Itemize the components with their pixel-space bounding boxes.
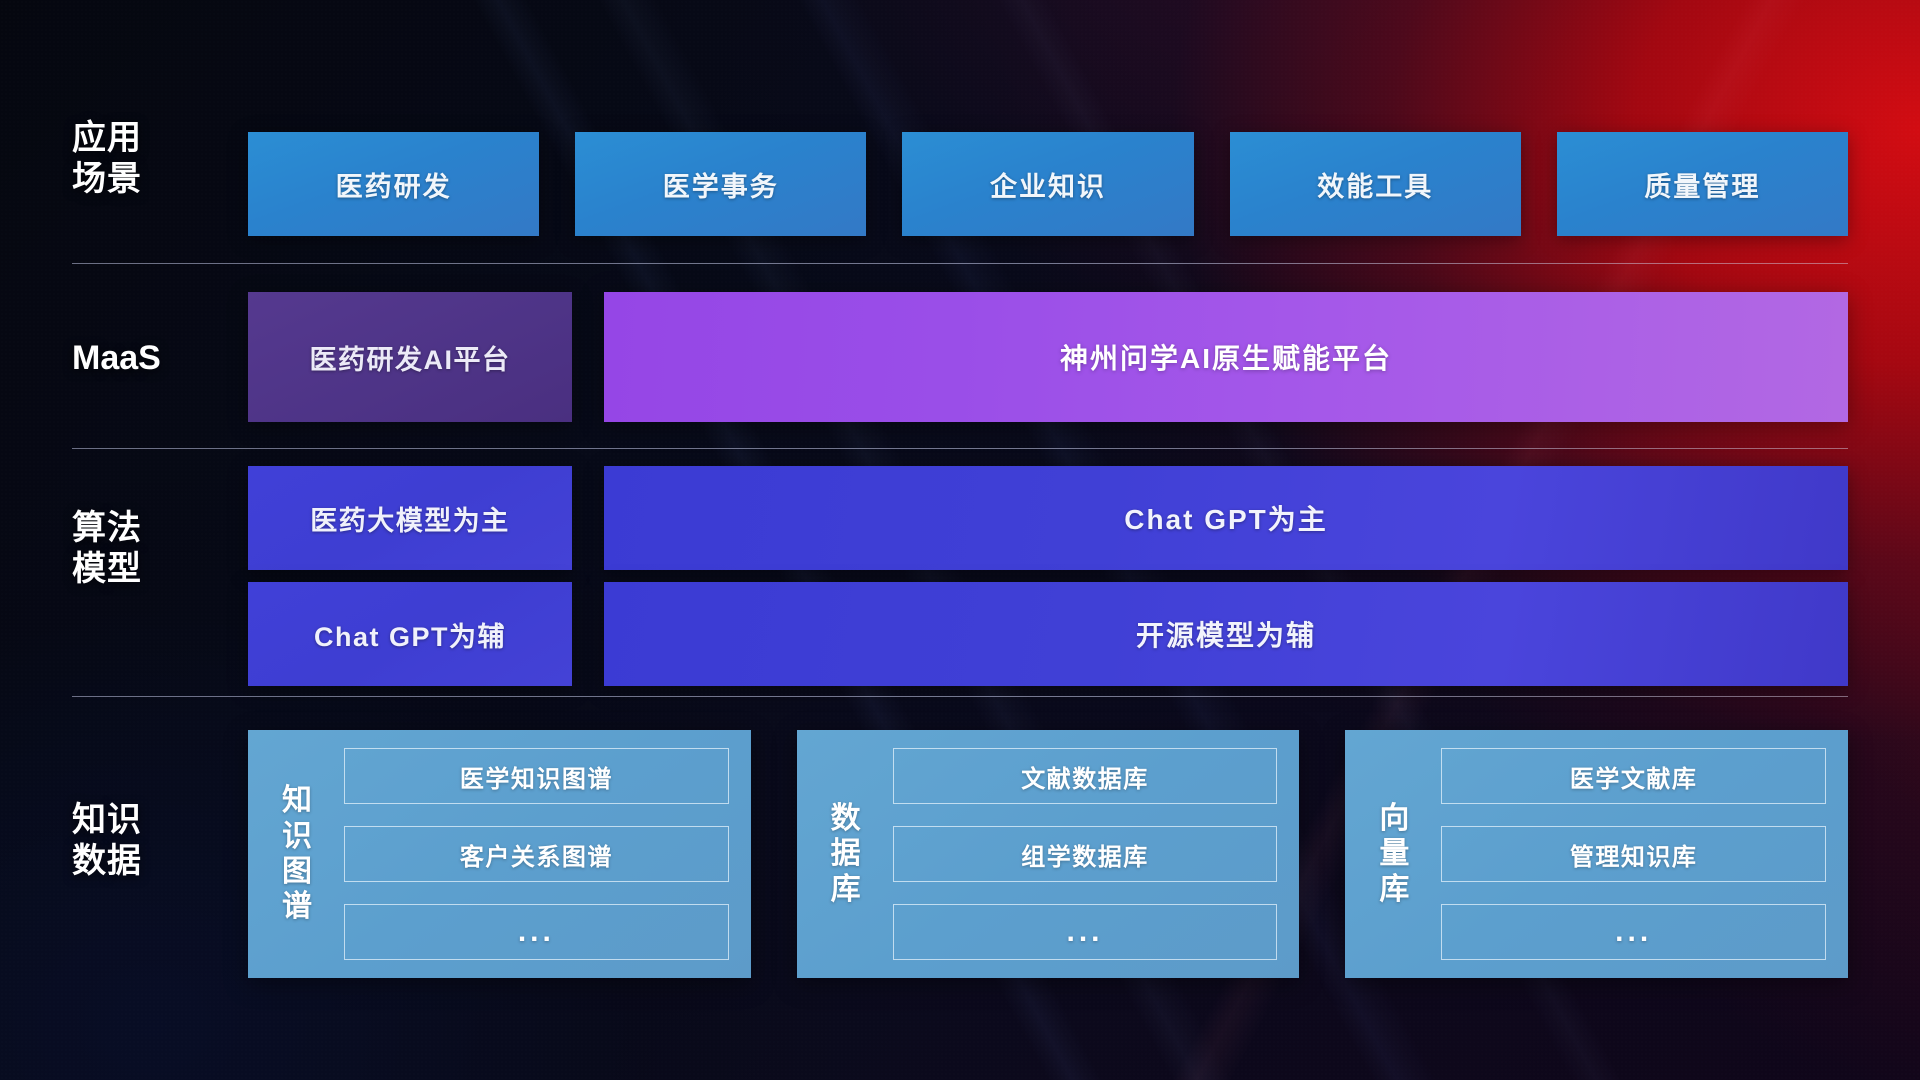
kd-item-management-knowledge-store[interactable]: 管理知识库 (1441, 826, 1826, 882)
row-label-knowledge-line2: 数据 (72, 841, 232, 882)
knowledge-data-groups: 知 识 图 谱 医学知识图谱 客户关系图谱 ... 数 据 库 (248, 730, 1848, 978)
title-char: 据 (831, 836, 861, 871)
kd-item-medical-literature-store[interactable]: 医学文献库 (1441, 748, 1826, 804)
row-label-maas-line1: MaaS (72, 338, 232, 379)
algo-card-chatgpt-primary[interactable]: Chat GPT为主 (604, 466, 1848, 570)
knowledge-group-items-database: 文献数据库 组学数据库 ... (893, 748, 1278, 960)
knowledge-group-items-knowledge-graph: 医学知识图谱 客户关系图谱 ... (344, 748, 729, 960)
app-card-xiaonenggongju[interactable]: 效能工具 (1230, 132, 1521, 236)
row-label-application-line2: 场景 (72, 159, 232, 200)
algorithm-model-row: 医药大模型为主 Chat GPT为主 Chat GPT为辅 开源模型为辅 (248, 466, 1848, 686)
title-char: 库 (831, 872, 861, 907)
app-card-yixueshiwu[interactable]: 医学事务 (575, 132, 866, 236)
row-label-application-line1: 应用 (72, 118, 232, 159)
kd-item-omics-database[interactable]: 组学数据库 (893, 826, 1278, 882)
kd-item-literature-database[interactable]: 文献数据库 (893, 748, 1278, 804)
title-char: 向 (1379, 801, 1409, 836)
title-char: 量 (1379, 836, 1409, 871)
title-char: 谱 (282, 889, 312, 924)
algorithm-row-secondary: Chat GPT为辅 开源模型为辅 (248, 582, 1848, 686)
kd-item-medical-knowledge-graph[interactable]: 医学知识图谱 (344, 748, 729, 804)
divider-maas-algorithm (72, 448, 1848, 449)
title-char: 图 (282, 854, 312, 889)
algo-card-opensource-secondary[interactable]: 开源模型为辅 (604, 582, 1848, 686)
divider-application-maas (72, 263, 1848, 264)
knowledge-group-title-database: 数 据 库 (815, 748, 877, 960)
title-char: 知 (282, 783, 312, 818)
algo-card-chatgpt-secondary[interactable]: Chat GPT为辅 (248, 582, 572, 686)
knowledge-group-knowledge-graph: 知 识 图 谱 医学知识图谱 客户关系图谱 ... (248, 730, 751, 978)
knowledge-group-items-vector-store: 医学文献库 管理知识库 ... (1441, 748, 1826, 960)
row-label-algorithm-line1: 算法 (72, 508, 232, 549)
title-char: 库 (1379, 872, 1409, 907)
maas-card-pharma-ai-platform[interactable]: 医药研发AI平台 (248, 292, 572, 422)
diagram-rows: 应用 场景 医药研发 医学事务 企业知识 效能工具 质量管理 MaaS 医药研发… (0, 0, 1920, 1080)
algorithm-row-primary: 医药大模型为主 Chat GPT为主 (248, 466, 1848, 570)
row-label-algorithm: 算法 模型 (72, 508, 232, 591)
row-label-knowledge: 知识 数据 (72, 800, 232, 883)
row-label-knowledge-line1: 知识 (72, 800, 232, 841)
maas-card-shenzhou-wenxue-platform[interactable]: 神州问学AI原生赋能平台 (604, 292, 1848, 422)
kd-item-more-knowledge-graph[interactable]: ... (344, 904, 729, 960)
row-label-application: 应用 场景 (72, 118, 232, 201)
kd-item-more-database[interactable]: ... (893, 904, 1278, 960)
knowledge-group-database: 数 据 库 文献数据库 组学数据库 ... (797, 730, 1300, 978)
title-char: 数 (831, 801, 861, 836)
app-card-qiyezhishi[interactable]: 企业知识 (902, 132, 1193, 236)
application-scenario-cards: 医药研发 医学事务 企业知识 效能工具 质量管理 (248, 132, 1848, 236)
algo-card-pharma-large-model-primary[interactable]: 医药大模型为主 (248, 466, 572, 570)
kd-item-customer-relation-graph[interactable]: 客户关系图谱 (344, 826, 729, 882)
app-card-zhilianguanli[interactable]: 质量管理 (1557, 132, 1848, 236)
knowledge-group-vector-store: 向 量 库 医学文献库 管理知识库 ... (1345, 730, 1848, 978)
architecture-diagram-slide: 应用 场景 医药研发 医学事务 企业知识 效能工具 质量管理 MaaS 医药研发… (0, 0, 1920, 1080)
kd-item-more-vector-store[interactable]: ... (1441, 904, 1826, 960)
knowledge-group-title-vector-store: 向 量 库 (1363, 748, 1425, 960)
row-label-algorithm-line2: 模型 (72, 549, 232, 590)
knowledge-group-title-knowledge-graph: 知 识 图 谱 (266, 748, 328, 960)
maas-row: 医药研发AI平台 神州问学AI原生赋能平台 (248, 292, 1848, 422)
title-char: 识 (282, 819, 312, 854)
divider-algorithm-knowledge (72, 696, 1848, 697)
row-label-maas: MaaS (72, 338, 232, 379)
app-card-yiyaoyanfa[interactable]: 医药研发 (248, 132, 539, 236)
